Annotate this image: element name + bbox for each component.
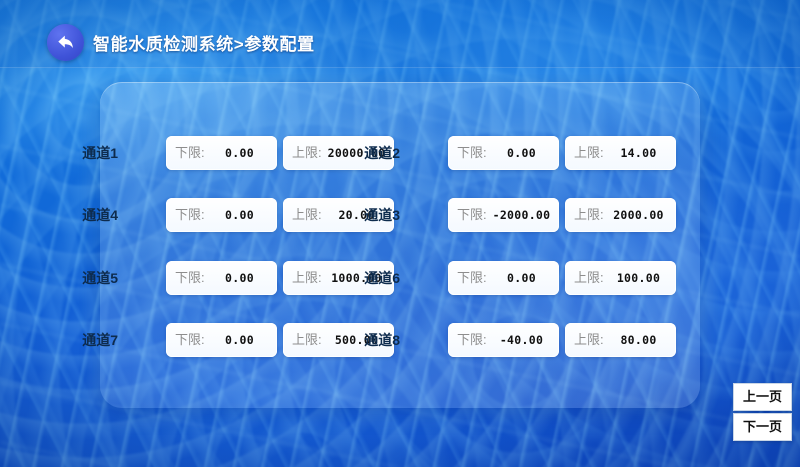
lower-limit-input[interactable]: 下限: -2000.00 [448, 198, 559, 232]
lower-limit-input[interactable]: 下限: 0.00 [448, 136, 559, 170]
upper-limit-value: 100.00 [565, 261, 676, 295]
channel-label: 通道5 [66, 261, 118, 295]
lower-limit-input[interactable]: 下限: 0.00 [166, 261, 277, 295]
lower-limit-input[interactable]: 下限: 0.00 [166, 136, 277, 170]
upper-limit-input[interactable]: 上限: 14.00 [565, 136, 676, 170]
lower-limit-value: -2000.00 [448, 198, 559, 232]
lower-limit-input[interactable]: 下限: 0.00 [166, 198, 277, 232]
channel-label: 通道6 [348, 261, 400, 295]
channel-label: 通道2 [348, 136, 400, 170]
channel-label: 通道7 [66, 323, 118, 357]
breadcrumb: 智能水质检测系统>参数配置 [93, 30, 315, 55]
parameter-panel [100, 82, 700, 408]
upper-limit-input[interactable]: 上限: 80.00 [565, 323, 676, 357]
lower-limit-value: -40.00 [448, 323, 559, 357]
channel-label: 通道3 [348, 198, 400, 232]
previous-page-button[interactable]: 上一页 [733, 383, 792, 411]
back-button[interactable] [47, 24, 84, 61]
lower-limit-value: 0.00 [448, 261, 559, 295]
upper-limit-value: 14.00 [565, 136, 676, 170]
lower-limit-input[interactable]: 下限: 0.00 [166, 323, 277, 357]
upper-limit-value: 80.00 [565, 323, 676, 357]
channel-label: 通道4 [66, 198, 118, 232]
upper-limit-input[interactable]: 上限: 100.00 [565, 261, 676, 295]
lower-limit-input[interactable]: 下限: 0.00 [448, 261, 559, 295]
channel-label: 通道1 [66, 136, 118, 170]
channel-label: 通道8 [348, 323, 400, 357]
lower-limit-value: 0.00 [448, 136, 559, 170]
lower-limit-input[interactable]: 下限: -40.00 [448, 323, 559, 357]
upper-limit-value: 2000.00 [565, 198, 676, 232]
next-page-button[interactable]: 下一页 [733, 413, 792, 441]
lower-limit-value: 0.00 [166, 261, 277, 295]
upper-limit-input[interactable]: 上限: 2000.00 [565, 198, 676, 232]
lower-limit-value: 0.00 [166, 136, 277, 170]
header-divider [0, 67, 800, 68]
parameter-configuration-screen: 智能水质检测系统>参数配置 通道1 下限: 0.00 上限: 20000.00 … [0, 0, 800, 467]
lower-limit-value: 0.00 [166, 323, 277, 357]
lower-limit-value: 0.00 [166, 198, 277, 232]
